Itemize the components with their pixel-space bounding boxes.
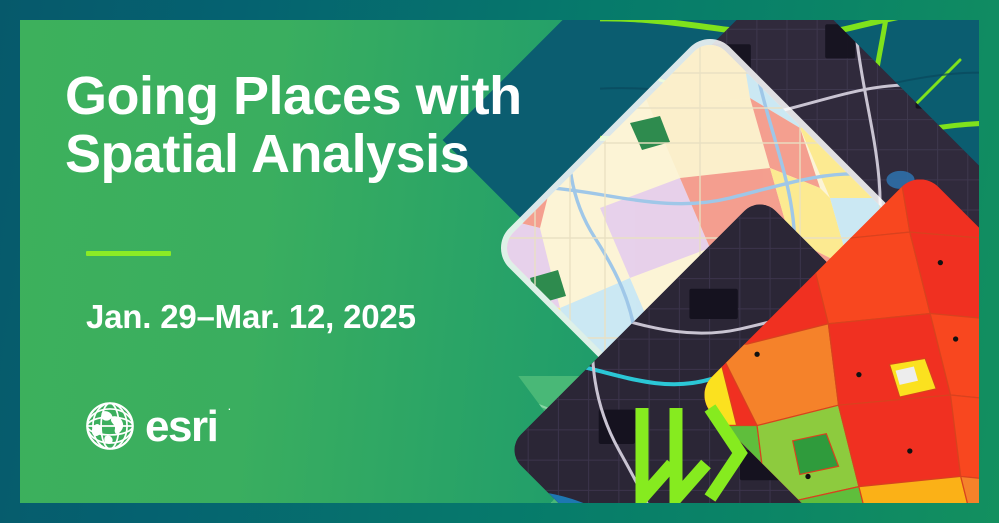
esri-going-places-banner: Going Places with Spatial Analysis Jan. … [0, 0, 999, 523]
page-title: Going Places with Spatial Analysis [65, 68, 522, 184]
esri-wordmark: esri [145, 405, 217, 449]
triple-chevron-forward-icon [632, 402, 752, 503]
text-column: Going Places with Spatial Analysis Jan. … [65, 20, 585, 503]
accent-divider-rule [86, 251, 171, 256]
esri-globe-icon [84, 400, 136, 452]
event-dates: Jan. 29–Mar. 12, 2025 [86, 298, 416, 336]
trademark-mark: · [227, 402, 231, 415]
esri-logo: esri · [84, 398, 231, 454]
banner-stage: Going Places with Spatial Analysis Jan. … [20, 20, 979, 503]
